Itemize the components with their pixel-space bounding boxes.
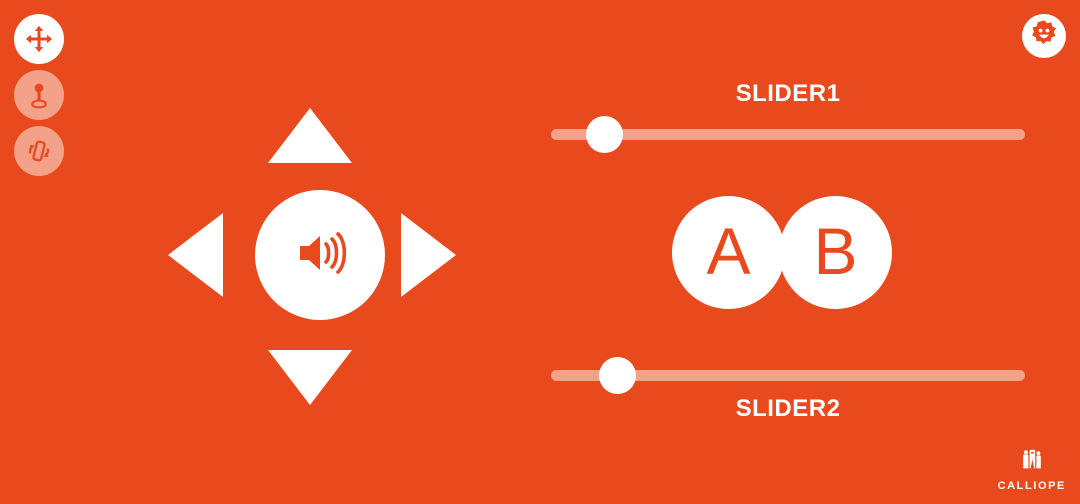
mascot-button[interactable] [1022, 14, 1066, 58]
dpad [160, 100, 480, 410]
dpad-up-button[interactable] [268, 108, 352, 163]
slider2-row: SLIDER2 [545, 347, 1031, 409]
slider2-label: SLIDER2 [545, 395, 1031, 423]
move-arrows-icon [24, 24, 54, 54]
move-tool-button[interactable] [14, 14, 64, 64]
slider2-thumb[interactable] [599, 357, 636, 394]
rotate-device-icon [25, 137, 53, 165]
button-a[interactable]: A [672, 196, 785, 309]
dpad-down-button[interactable] [268, 350, 352, 405]
simulator-control-panel: SLIDER1 A B SLIDER2 [0, 0, 1080, 504]
dpad-left-button[interactable] [168, 213, 223, 297]
joystick-tool-button[interactable] [14, 70, 64, 120]
slider1-track[interactable] [551, 129, 1025, 140]
slider1-thumb[interactable] [586, 116, 623, 153]
button-b[interactable]: B [779, 196, 892, 309]
slider1-label: SLIDER1 [545, 80, 1031, 108]
ab-button-group: A B [672, 196, 892, 309]
slider2-track[interactable] [551, 370, 1025, 381]
brand-name: CALLIOPE [998, 480, 1066, 492]
calliope-logo-icon [1019, 446, 1045, 477]
speaker-volume-icon [283, 216, 357, 295]
tool-rail [14, 14, 72, 176]
speaker-button[interactable] [255, 190, 385, 320]
smiling-star-face-icon [1028, 18, 1060, 55]
rotate-tool-button[interactable] [14, 126, 64, 176]
joystick-icon [25, 81, 53, 109]
brand-mark: CALLIOPE [998, 446, 1066, 492]
dpad-right-button[interactable] [401, 213, 456, 297]
slider1-row: SLIDER1 [545, 106, 1031, 168]
